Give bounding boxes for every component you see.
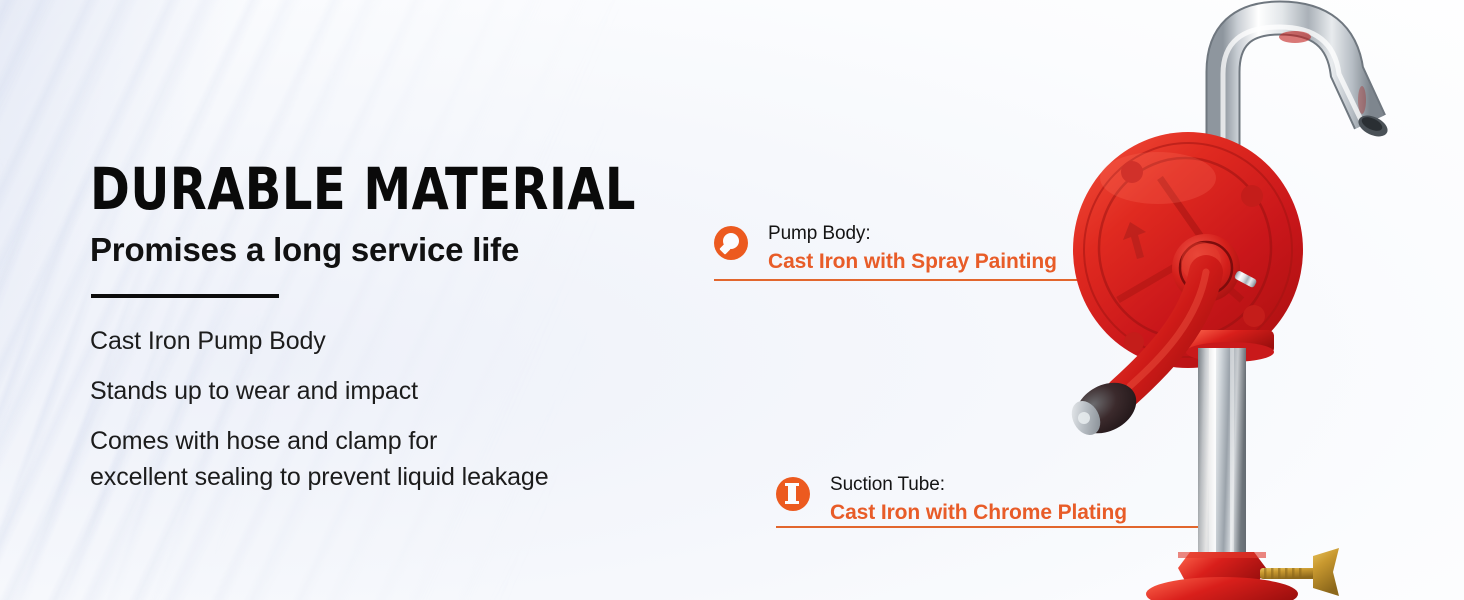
chrome-suction-tube	[1198, 348, 1246, 556]
page-title: DURABLE MATERIAL	[90, 160, 660, 218]
red-base-flange	[1146, 577, 1298, 600]
tube-icon	[776, 477, 810, 511]
list-item: excellent sealing to prevent liquid leak…	[90, 460, 710, 494]
feature-list: Cast Iron Pump Body Stands up to wear an…	[90, 324, 710, 494]
subtitle: Promises a long service life	[90, 232, 710, 268]
speech-bubble-body	[723, 233, 739, 249]
list-item: Stands up to wear and impact	[90, 374, 710, 408]
tube-icon-bar	[788, 483, 796, 504]
product-feature-banner: DURABLE MATERIAL Promises a long service…	[0, 0, 1464, 600]
speech-bubble-icon	[714, 226, 748, 260]
list-item: Cast Iron Pump Body	[90, 324, 710, 358]
divider-rule	[91, 294, 279, 298]
copy-block: DURABLE MATERIAL Promises a long service…	[90, 160, 710, 494]
list-item: Comes with hose and clamp for	[90, 424, 710, 458]
product-image-rotary-hand-drum-pump	[1010, 0, 1464, 600]
